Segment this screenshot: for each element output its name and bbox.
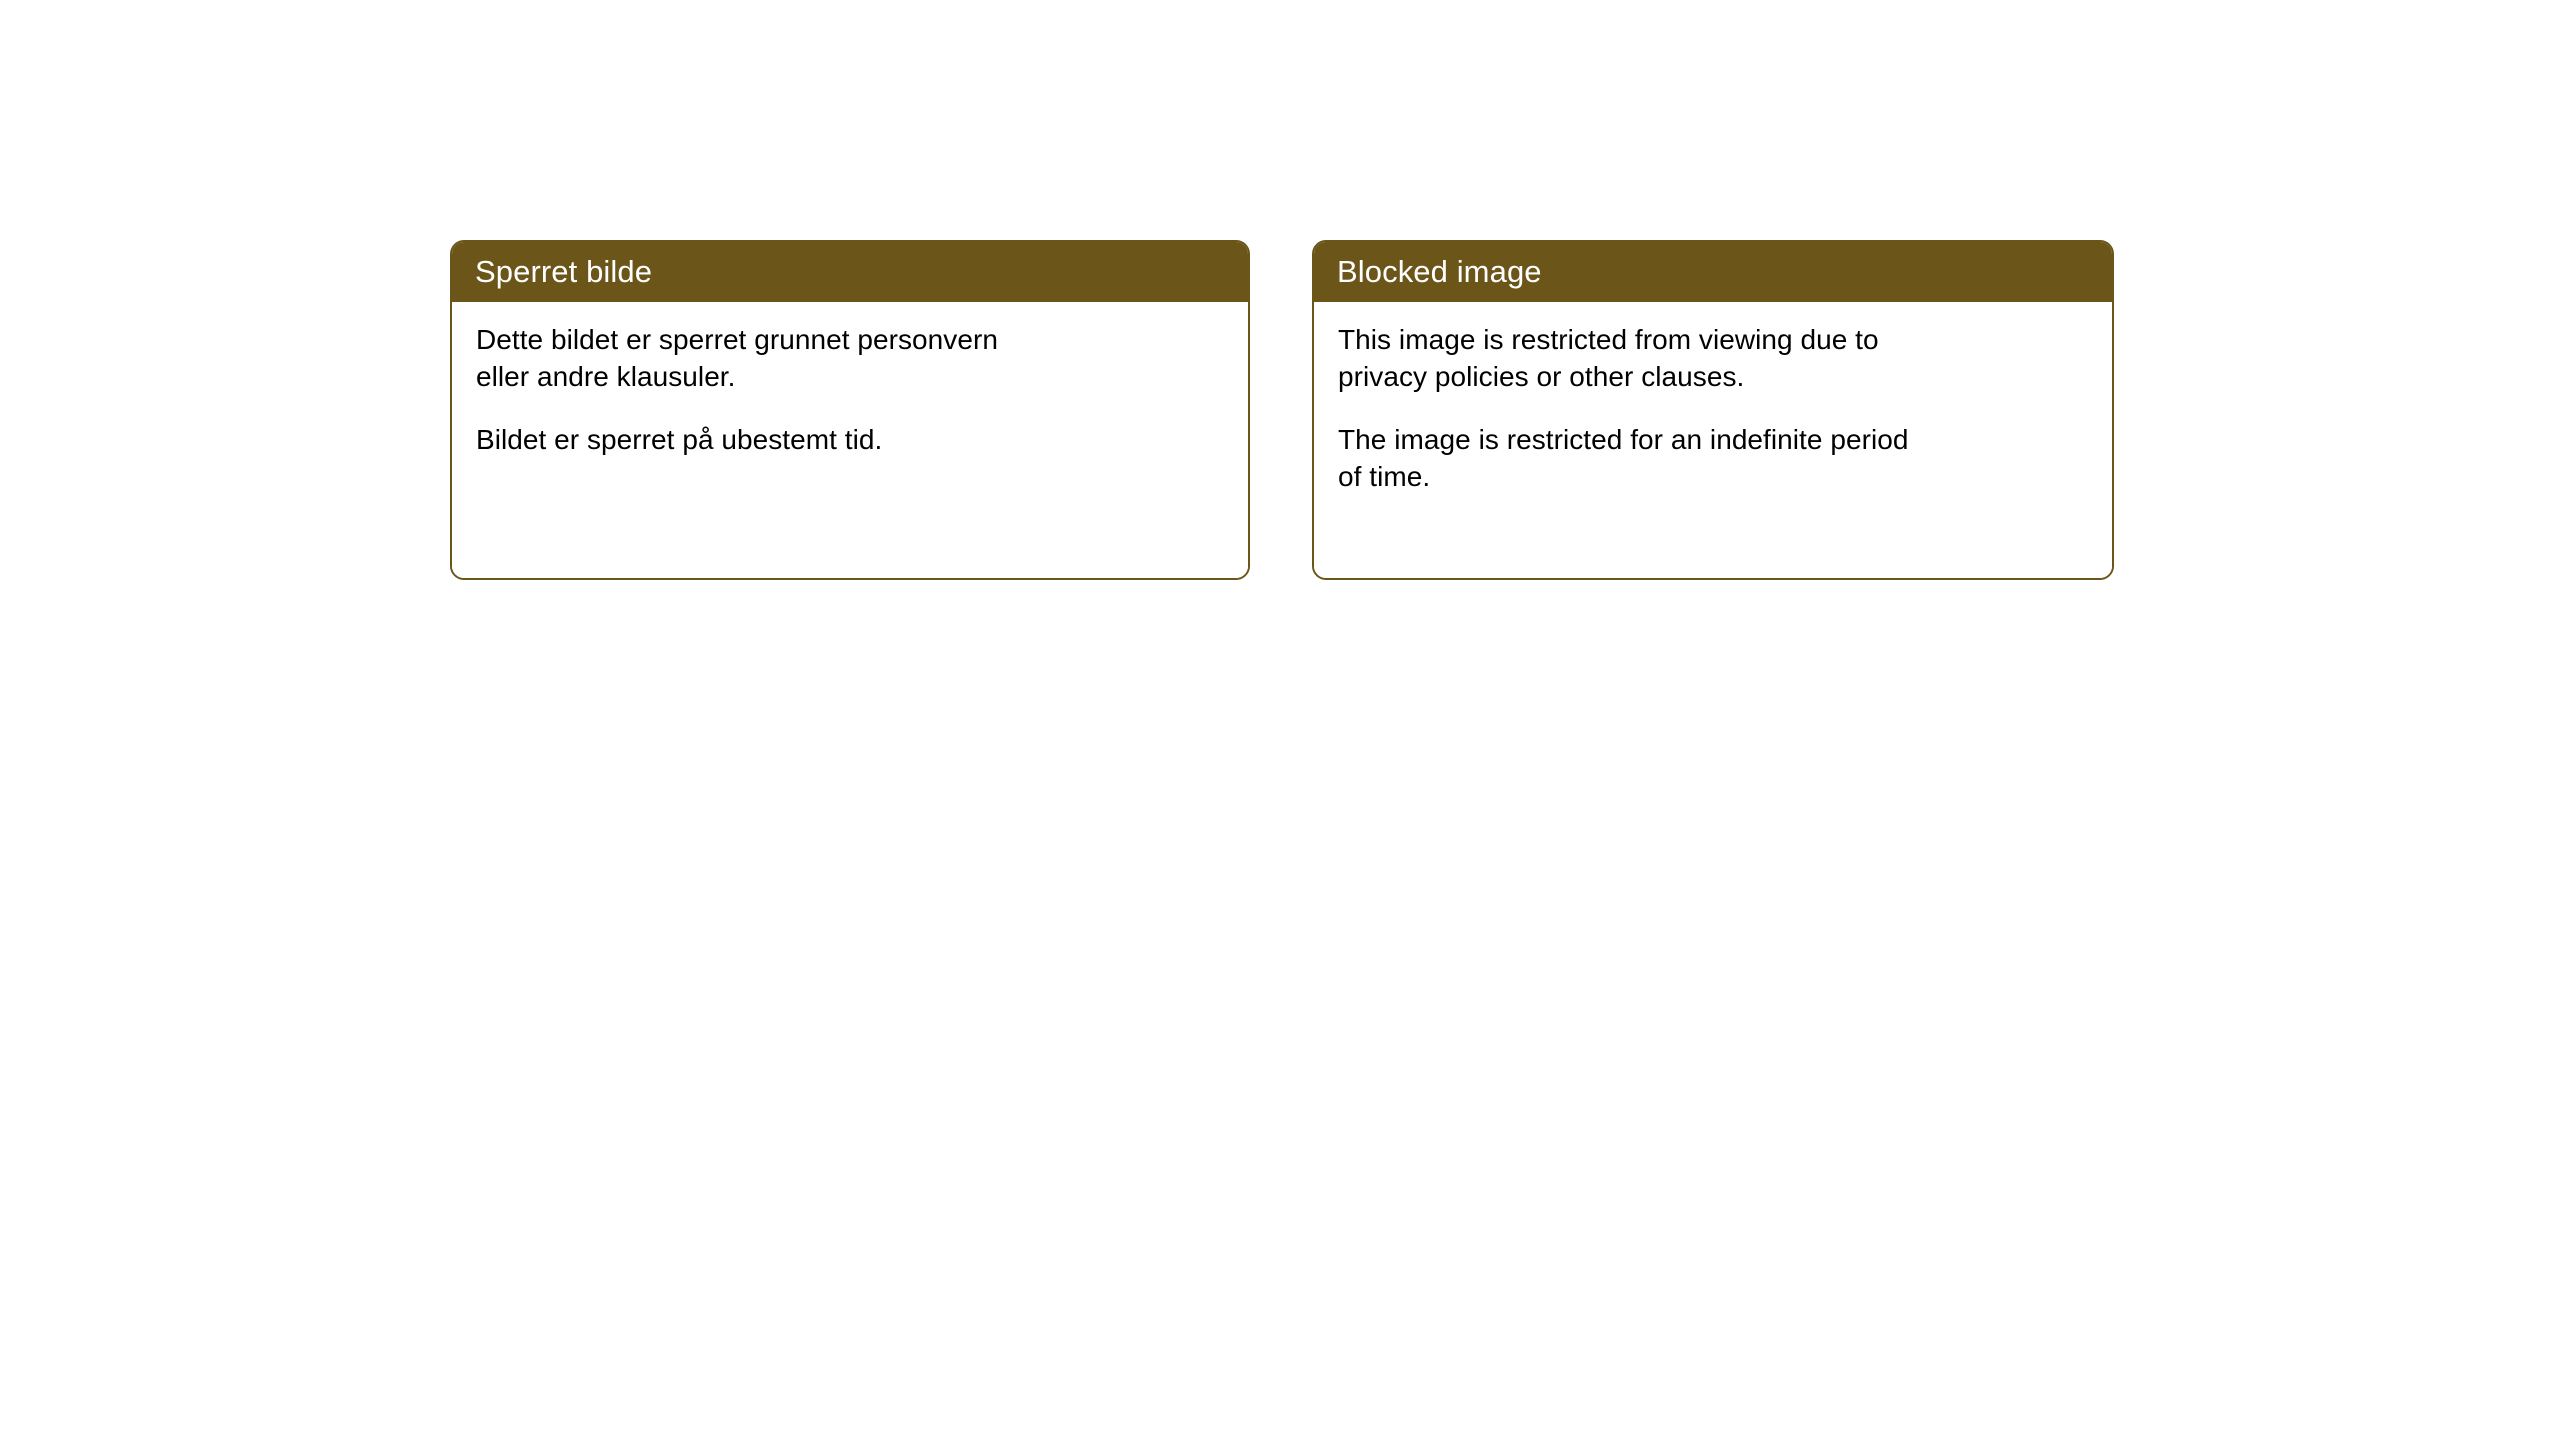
panel-title-english: Blocked image xyxy=(1314,242,2112,302)
panel-paragraph-primary-english: This image is restricted from viewing du… xyxy=(1338,322,2088,395)
panel-paragraph-secondary-norwegian: Bildet er sperret på ubestemt tid. xyxy=(476,422,1224,459)
panel-body-norwegian: Dette bildet er sperret grunnet personve… xyxy=(452,302,1248,578)
panel-paragraph-primary-norwegian: Dette bildet er sperret grunnet personve… xyxy=(476,322,1224,395)
blocked-image-panel-norwegian: Sperret bilde Dette bildet er sperret gr… xyxy=(450,240,1250,580)
blocked-image-panel-english: Blocked image This image is restricted f… xyxy=(1312,240,2114,580)
panel-paragraph-secondary-english: The image is restricted for an indefinit… xyxy=(1338,422,2088,495)
panel-body-english: This image is restricted from viewing du… xyxy=(1314,302,2112,578)
panel-title-norwegian: Sperret bilde xyxy=(452,242,1248,302)
blocked-image-notice-group: Sperret bilde Dette bildet er sperret gr… xyxy=(450,240,2114,580)
